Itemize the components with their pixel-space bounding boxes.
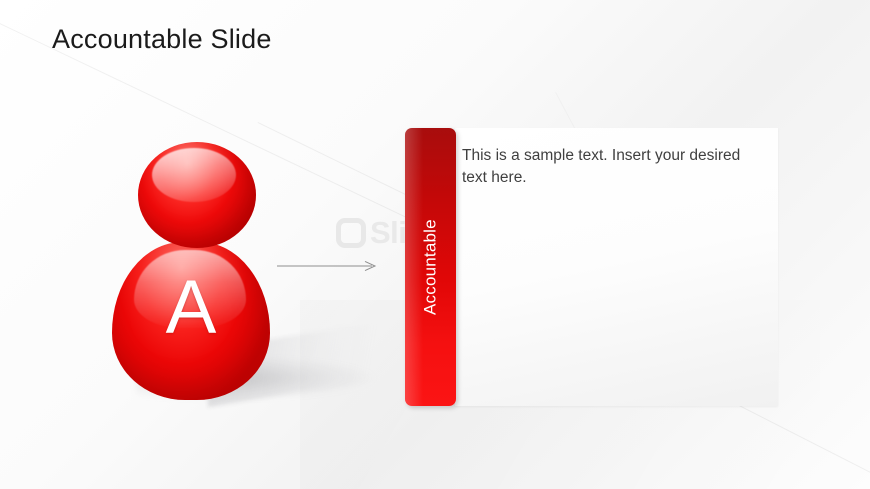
accountable-person-icon[interactable]: A <box>108 138 283 408</box>
accountable-tab-label: Accountable <box>405 128 456 406</box>
avatar-head-highlight <box>152 148 236 202</box>
slide-canvas: Accountable Slide SlideModel .com A Acco… <box>0 0 870 489</box>
panel-body-text[interactable]: This is a sample text. Insert your desir… <box>462 145 762 189</box>
slidemodel-logo-icon <box>336 218 366 248</box>
avatar-letter: A <box>112 270 270 346</box>
page-title: Accountable Slide <box>52 24 272 55</box>
content-panel: Accountable This is a sample text. Inser… <box>405 128 778 406</box>
connector-arrow-icon <box>277 258 377 274</box>
